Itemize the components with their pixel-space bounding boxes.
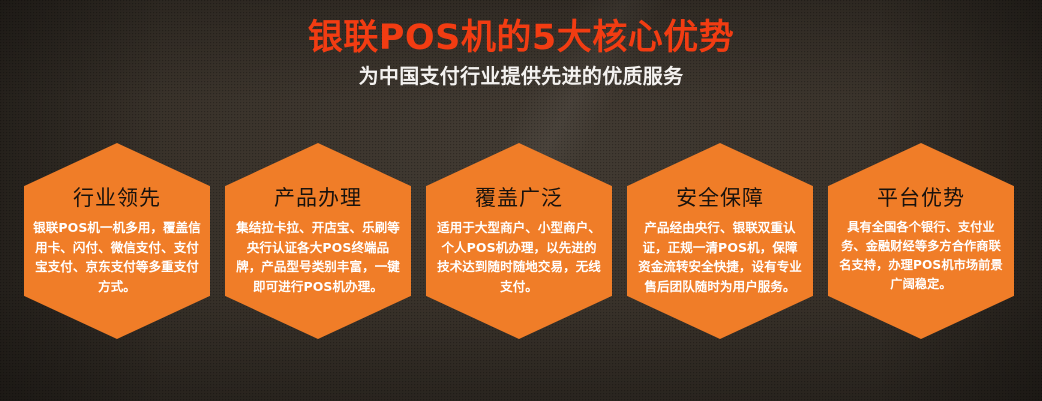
advantages-list: 行业领先 银联POS机一机多用，覆盖信用卡、闪付、微信支付、支付宝支付、京东支付… — [24, 143, 1018, 341]
advantage-card-4[interactable]: 安全保障 产品经由央行、银联双重认证，正规一清POS机，保障资金流转安全快捷，设… — [627, 143, 813, 339]
page-subtitle: 为中国支付行业提供先进的优质服务 — [0, 64, 1042, 88]
advantage-card-4-body: 产品经由央行、银联双重认证，正规一清POS机，保障资金流转安全快捷，设有专业售后… — [637, 218, 803, 296]
banner-header: 银联POS机的5大核心优势 为中国支付行业提供先进的优质服务 — [0, 18, 1042, 88]
page-title: 银联POS机的5大核心优势 — [0, 18, 1042, 58]
advantage-card-4-title: 安全保障 — [676, 185, 764, 211]
advantage-card-5[interactable]: 平台优势 具有全国各个银行、支付业务、金融财经等多方合作商联名支持，办理POS机… — [828, 143, 1014, 339]
advantage-card-3[interactable]: 覆盖广泛 适用于大型商户、小型商户、个人POS机办理，以先进的技术达到随时随地交… — [426, 143, 612, 339]
advantage-card-1-body: 银联POS机一机多用，覆盖信用卡、闪付、微信支付、支付宝支付、京东支付等多重支付… — [33, 218, 201, 296]
advantage-card-2-body: 集结拉卡拉、开店宝、乐刷等央行认证各大POS终端品牌，产品型号类别丰富，一键即可… — [235, 218, 401, 296]
advantage-card-2[interactable]: 产品办理 集结拉卡拉、开店宝、乐刷等央行认证各大POS终端品牌，产品型号类别丰富… — [225, 143, 411, 339]
advantage-card-5-body: 具有全国各个银行、支付业务、金融财经等多方合作商联名支持，办理POS机市场前景广… — [837, 218, 1005, 294]
advantage-card-5-title: 平台优势 — [877, 185, 965, 211]
advantage-card-3-body: 适用于大型商户、小型商户、个人POS机办理，以先进的技术达到随时随地交易，无线支… — [436, 218, 602, 296]
advantage-card-2-title: 产品办理 — [274, 185, 362, 211]
advantage-card-1-title: 行业领先 — [73, 185, 161, 211]
promo-banner: 银联POS机的5大核心优势 为中国支付行业提供先进的优质服务 行业领先 银联PO… — [0, 0, 1042, 401]
advantage-card-1[interactable]: 行业领先 银联POS机一机多用，覆盖信用卡、闪付、微信支付、支付宝支付、京东支付… — [24, 143, 210, 339]
advantage-card-3-title: 覆盖广泛 — [475, 185, 563, 211]
